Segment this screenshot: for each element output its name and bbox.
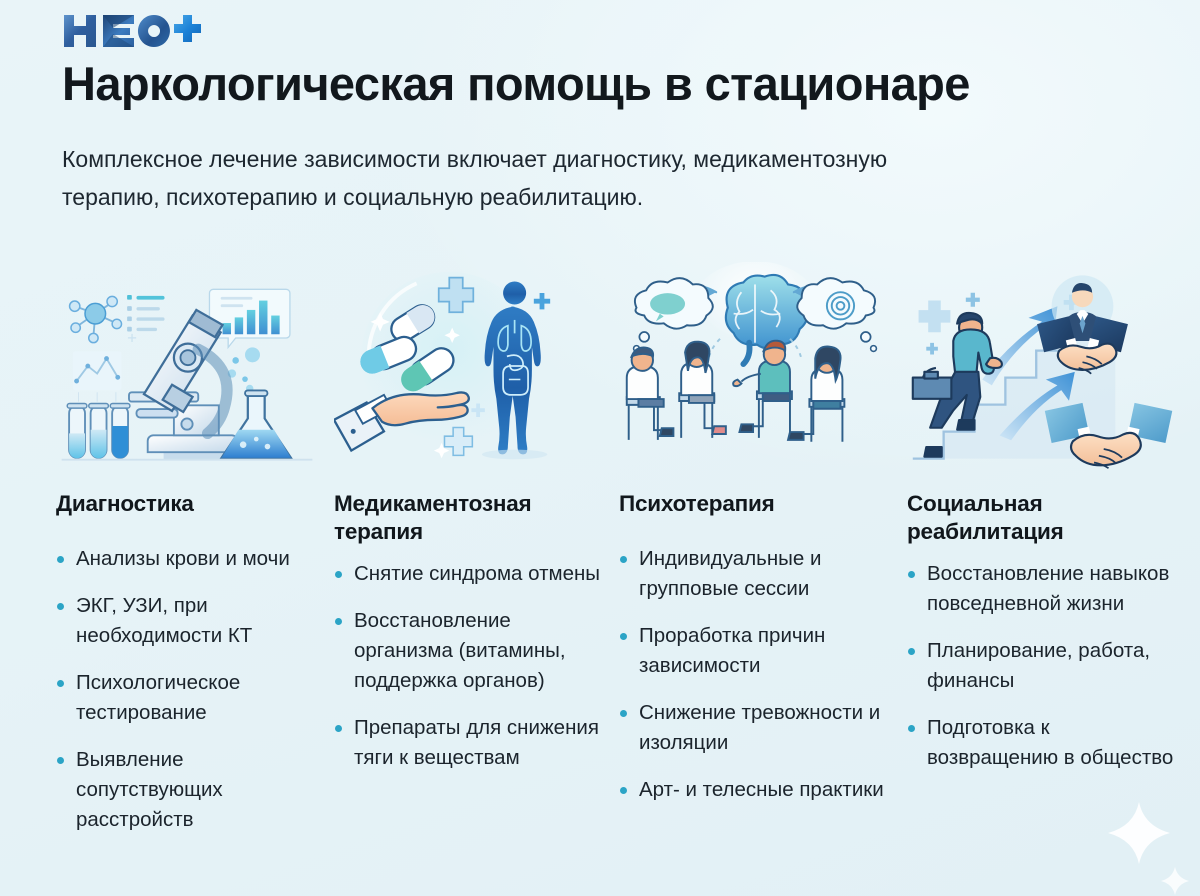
list-item: Проработка причин зависимости: [619, 621, 891, 681]
medical-cross-icon: [919, 300, 951, 332]
list-item: Снятие синдрома отмены: [334, 559, 603, 589]
group-therapy-brain-illustration: [619, 262, 891, 472]
list-item: Индивидуальные и групповые сессии: [619, 544, 891, 604]
column-title-diagnostics: Диагностика: [56, 490, 318, 518]
svg-text:+: +: [127, 329, 137, 348]
infographic-page: НЕО+ Наркологическая помощь в стационаре…: [0, 0, 1200, 896]
test-tubes-icon: [67, 403, 130, 458]
service-columns: +: [0, 262, 1200, 882]
column-social-rehabilitation: Социальная реабилитация Восстановление н…: [907, 262, 1193, 882]
list-item: Выявление сопутствующих расстройств: [56, 745, 318, 835]
brand-logo: НЕО+: [62, 10, 202, 52]
list-item: Планирование, работа, финансы: [907, 636, 1177, 696]
list-item: Восстановление организма (витамины, подд…: [334, 606, 603, 696]
bullet-list-medication: Снятие синдрома отмены Восстановление ор…: [334, 559, 603, 773]
list-item: Восстановление навыков повседневной жизн…: [907, 559, 1177, 619]
logo-neo-plus-icon: [62, 11, 202, 51]
bullet-list-social-rehabilitation: Восстановление навыков повседневной жизн…: [907, 559, 1177, 773]
list-item: ЭКГ, УЗИ, при необходимости КТ: [56, 591, 318, 651]
column-title-social-rehabilitation: Социальная реабилитация: [907, 490, 1162, 547]
medication-hand-pills-body-illustration: [334, 262, 603, 472]
career-stairs-handshake-illustration: [907, 262, 1177, 472]
column-title-psychotherapy: Психотерапия: [619, 490, 891, 518]
bullet-list-diagnostics: Анализы крови и мочи ЭКГ, УЗИ, при необх…: [56, 544, 318, 835]
list-item: Психологическое тестирование: [56, 668, 318, 728]
list-item: Анализы крови и мочи: [56, 544, 318, 574]
list-item: Арт- и телесные практики: [619, 775, 891, 805]
list-item: Препараты для снижения тяги к веществам: [334, 713, 603, 773]
flask-icon: [222, 390, 291, 457]
column-medication: Медикаментозная терапия Снятие синдрома …: [334, 262, 619, 882]
page-subtitle: Комплексное лечение зависимости включает…: [62, 140, 942, 216]
checklist-icon: [127, 295, 164, 331]
column-psychotherapy: Психотерапия Индивидуальные и групповые …: [619, 262, 907, 882]
list-item: Снижение тревожности и изоляции: [619, 698, 891, 758]
list-item: Подготовка к возвращению в общество: [907, 713, 1177, 773]
column-title-medication: Медикаментозная терапия: [334, 490, 589, 547]
page-title: Наркологическая помощь в стационаре: [62, 58, 1162, 111]
bullet-list-psychotherapy: Индивидуальные и групповые сессии Прораб…: [619, 544, 891, 805]
laboratory-diagnostics-illustration: +: [56, 262, 318, 472]
bar-chart-bubble-icon: [209, 289, 289, 347]
column-diagnostics: +: [56, 262, 334, 882]
line-chart-icon: [73, 351, 122, 402]
